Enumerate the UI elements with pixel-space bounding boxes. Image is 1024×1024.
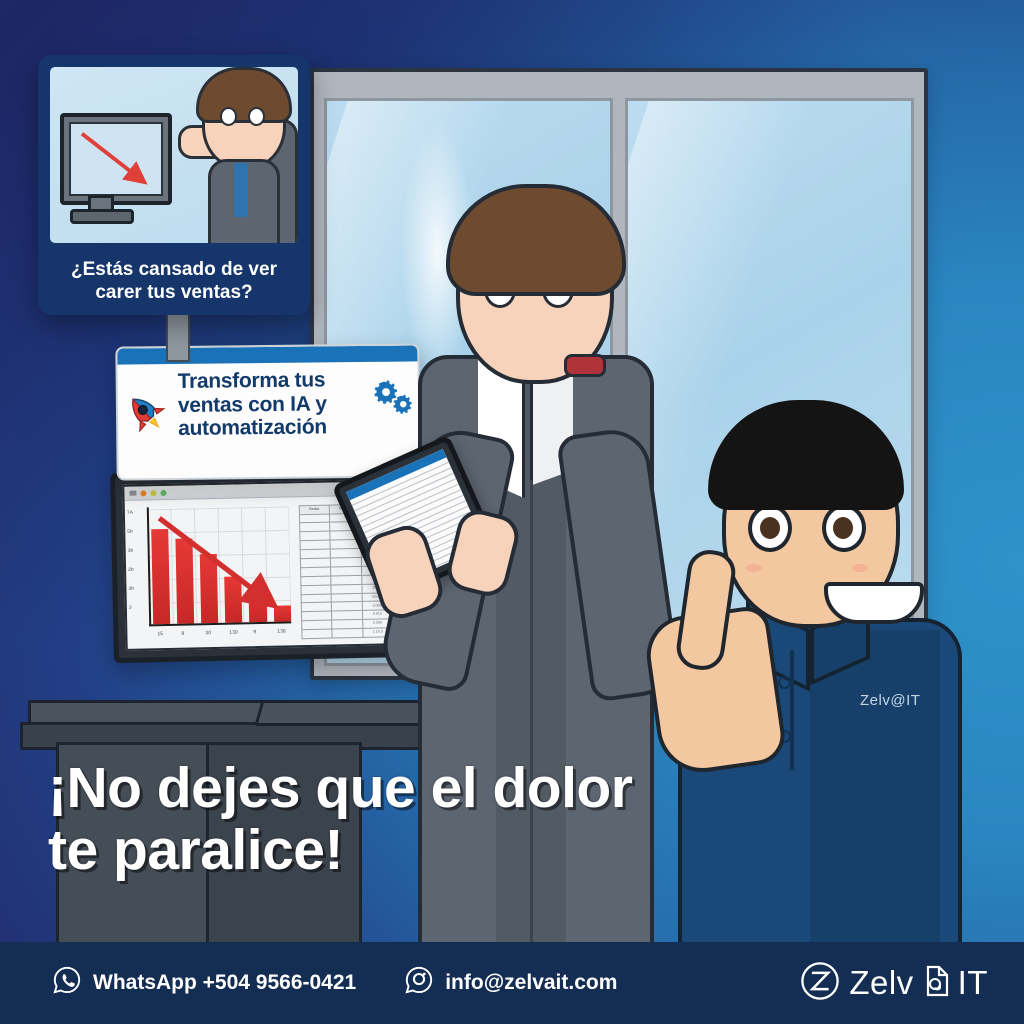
circled-z-icon xyxy=(800,961,840,1006)
brand-logo[interactable]: Zelv IT xyxy=(800,961,988,1006)
whatsapp-icon xyxy=(52,965,82,1001)
brand-name-a: Zelv xyxy=(849,964,913,1002)
cheek-left xyxy=(746,564,762,572)
chart-y-tick: 3b xyxy=(128,586,134,592)
maximize-icon xyxy=(160,489,166,495)
callout-text: ¿Estás cansado de ver carer tus ventas? xyxy=(38,258,310,306)
consultant-hair xyxy=(708,400,904,510)
chart-x-tick: 15 xyxy=(157,631,163,637)
callout-illustration xyxy=(50,67,298,243)
minimize-icon xyxy=(150,490,156,496)
message-circle-icon xyxy=(404,965,434,1001)
chart-y-tick: 3b xyxy=(128,548,134,554)
chart-bar xyxy=(176,538,195,624)
polo-button-1 xyxy=(778,676,791,689)
email-contact[interactable]: info@zelvait.com xyxy=(404,965,617,1001)
businessman-hair xyxy=(446,184,626,296)
table-cell xyxy=(332,629,363,639)
chart-x-tick: 9 xyxy=(253,629,256,635)
chart-y-tick: 7A xyxy=(127,510,133,516)
open-mouth xyxy=(564,354,606,377)
polo-placket xyxy=(790,650,794,770)
callout-monitor-base xyxy=(70,209,134,224)
whatsapp-label: WhatsApp +504 9566-0421 xyxy=(93,971,356,995)
eye-right xyxy=(822,504,866,552)
callout-necktie xyxy=(234,163,248,217)
close-icon xyxy=(140,490,146,496)
chart-y-tick: 3 xyxy=(129,605,132,610)
callout-hair xyxy=(196,67,292,123)
chart-y-tick: 5b xyxy=(127,529,133,535)
cheek-right xyxy=(852,564,868,572)
callout-eye-left xyxy=(220,107,237,126)
headline-line-1: ¡No dejes que el dolor xyxy=(48,758,748,820)
chart-bar xyxy=(151,529,170,625)
solution-promo-banner: Transforma tus ventas con IA y automatiz… xyxy=(115,343,420,480)
headline: ¡No dejes que el dolor te paralice! xyxy=(48,758,748,881)
chart-x-tick: 8 xyxy=(181,631,184,637)
sales-decline-chart: 7A5b3b2b3b3 158301309136 xyxy=(125,496,300,649)
callout-line-1: ¿Estás cansado de ver xyxy=(52,258,296,282)
callout-pole xyxy=(166,312,190,362)
falling-arrow-icon xyxy=(71,124,161,194)
chart-bars xyxy=(151,506,291,624)
smiling-mouth xyxy=(824,582,924,624)
chart-x-tick: 136 xyxy=(277,629,285,635)
jacket-seam xyxy=(530,480,533,960)
chart-bar xyxy=(200,554,219,623)
callout-line-2: carer tus ventas? xyxy=(52,281,296,305)
callout-monitor xyxy=(60,113,172,205)
contact-footer: WhatsApp +504 9566-0421 info@zelvait.com… xyxy=(0,942,1024,1024)
table-cell xyxy=(302,629,333,639)
headline-line-2: te paralice! xyxy=(48,820,748,882)
table-row: 1.16.0 xyxy=(302,628,393,639)
it-consultant: Zelv@IT xyxy=(660,400,970,970)
eye-left xyxy=(748,504,792,552)
chart-x-tick: 30 xyxy=(205,630,211,636)
document-icon xyxy=(921,964,951,1003)
chart-bar xyxy=(273,605,290,622)
shirt-logo: Zelv@IT xyxy=(860,692,920,709)
callout-eye-right xyxy=(248,107,265,126)
whatsapp-contact[interactable]: WhatsApp +504 9566-0421 xyxy=(52,965,356,1001)
poster-canvas: 7A5b3b2b3b3 158301309136 FechaVentasTota… xyxy=(0,0,1024,1024)
chart-x-tick: 130 xyxy=(229,630,237,636)
chart-bar xyxy=(249,589,267,622)
callout-monitor-screen xyxy=(69,122,163,196)
menu-icon xyxy=(129,491,136,496)
rocket-icon xyxy=(115,382,184,452)
email-label: info@zelvait.com xyxy=(445,971,617,995)
chart-y-tick: 2b xyxy=(128,567,134,573)
chart-bar xyxy=(225,576,243,622)
brand-name-b: IT xyxy=(958,964,988,1002)
problem-callout-panel: ¿Estás cansado de ver carer tus ventas? xyxy=(38,55,310,315)
